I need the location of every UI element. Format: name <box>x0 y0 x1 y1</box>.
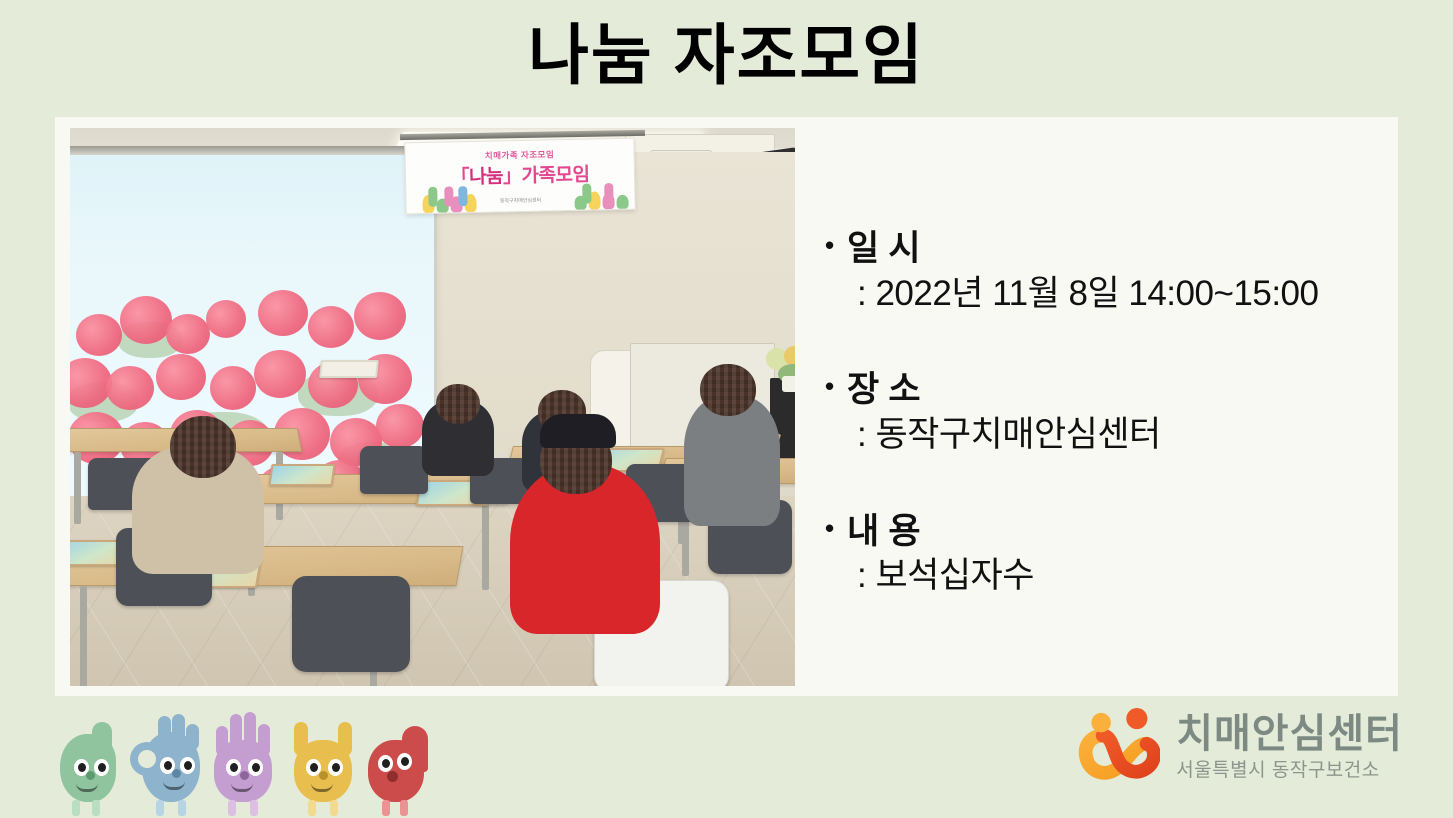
detail-value: : 동작구치매안심센터 <box>857 412 1370 458</box>
mascot-legs <box>368 800 432 816</box>
table-leg <box>482 504 489 590</box>
flower-vase <box>760 346 795 392</box>
photo-scene: 치매가족 자조모임 「나눔」가족모임 동작구치매안심센터 <box>70 128 795 686</box>
page-title-bar: 나눔 자조모임 <box>0 0 1453 110</box>
mascot-thumbs-up <box>58 720 120 802</box>
event-details: • 일 시 : 2022년 11월 8일 14:00~15:00 • 장 소 :… <box>825 227 1370 599</box>
mascot-legs <box>58 800 120 816</box>
banner-highlight: 나눔 <box>469 166 503 188</box>
craft-kit <box>319 360 379 378</box>
organization-logo: 치매안심센터 서울특별시 동작구보건소 <box>1078 708 1403 786</box>
content-card: 치매가족 자조모임 「나눔」가족모임 동작구치매안심센터 <box>55 117 1398 696</box>
detail-value: : 보석십자수 <box>857 553 1370 599</box>
mascot-eye <box>94 759 109 776</box>
detail-label: 일 시 <box>847 227 920 271</box>
mascot-nose <box>387 771 398 782</box>
bullet-icon: • <box>825 227 847 265</box>
mascot-rock-sign <box>286 714 360 802</box>
mascot-eye <box>397 753 412 770</box>
detail-item: • 일 시 : 2022년 11월 8일 14:00~15:00 <box>825 227 1370 316</box>
detail-label-row: • 일 시 <box>825 227 1370 271</box>
detail-label: 내 용 <box>847 510 920 554</box>
bullet-icon: • <box>825 510 847 548</box>
mascot-eye <box>328 759 343 776</box>
table-leg <box>74 452 81 524</box>
detail-label: 장 소 <box>847 368 920 412</box>
mascot-legs <box>210 800 276 816</box>
mascot-legs <box>286 800 360 816</box>
mascot-eye <box>180 757 195 774</box>
mascot-row <box>58 704 418 812</box>
detail-value: : 2022년 11월 8일 14:00~15:00 <box>857 271 1370 317</box>
mascot-eye <box>378 755 393 772</box>
participant-face-blurred <box>436 384 480 424</box>
mascot-ok-sign <box>130 712 202 802</box>
mascot-nose <box>86 771 95 780</box>
mascot-eye <box>226 759 241 776</box>
mascot-nose <box>172 769 181 778</box>
banner-line-2: 「나눔」가족모임 <box>406 159 635 191</box>
detail-item: • 내 용 : 보석십자수 <box>825 510 1370 599</box>
dementia-center-mark-icon <box>1078 708 1160 786</box>
banner-bracket-open: 「 <box>450 167 469 188</box>
craft-kit <box>268 464 335 486</box>
brand-text: 치매안심센터 서울특별시 동작구보건소 <box>1176 712 1403 782</box>
table-leg <box>80 586 87 686</box>
mascot-nose <box>319 771 328 780</box>
activity-photo: 치매가족 자조모임 「나눔」가족모임 동작구치매안심센터 <box>70 128 795 686</box>
chair <box>360 446 428 494</box>
mascot-legs <box>130 800 202 816</box>
brand-name: 치매안심센터 <box>1176 712 1403 756</box>
mascot-nose <box>240 771 249 780</box>
banner-tulip-decor <box>406 189 634 214</box>
participant-face-blurred <box>170 416 236 478</box>
mascot-fist <box>368 720 432 802</box>
mascot-eye <box>248 759 263 776</box>
brand-subtitle: 서울특별시 동작구보건소 <box>1176 761 1403 782</box>
participant-face-blurred <box>700 364 756 416</box>
detail-label-row: • 내 용 <box>825 510 1370 554</box>
chair <box>292 576 410 672</box>
mascot-open-palm <box>210 706 276 802</box>
detail-item: • 장 소 : 동작구치매안심센터 <box>825 368 1370 457</box>
projector-screen-rod <box>70 146 446 155</box>
event-banner: 치매가족 자조모임 「나눔」가족모임 동작구치매안심센터 <box>404 138 635 215</box>
bullet-icon: • <box>825 368 847 406</box>
banner-bracket-close: 」가족모임 <box>503 165 590 188</box>
page-title: 나눔 자조모임 <box>528 22 925 88</box>
footer: 치매안심센터 서울특별시 동작구보건소 <box>0 696 1453 818</box>
participant-cap <box>540 414 616 448</box>
detail-label-row: • 장 소 <box>825 368 1370 412</box>
